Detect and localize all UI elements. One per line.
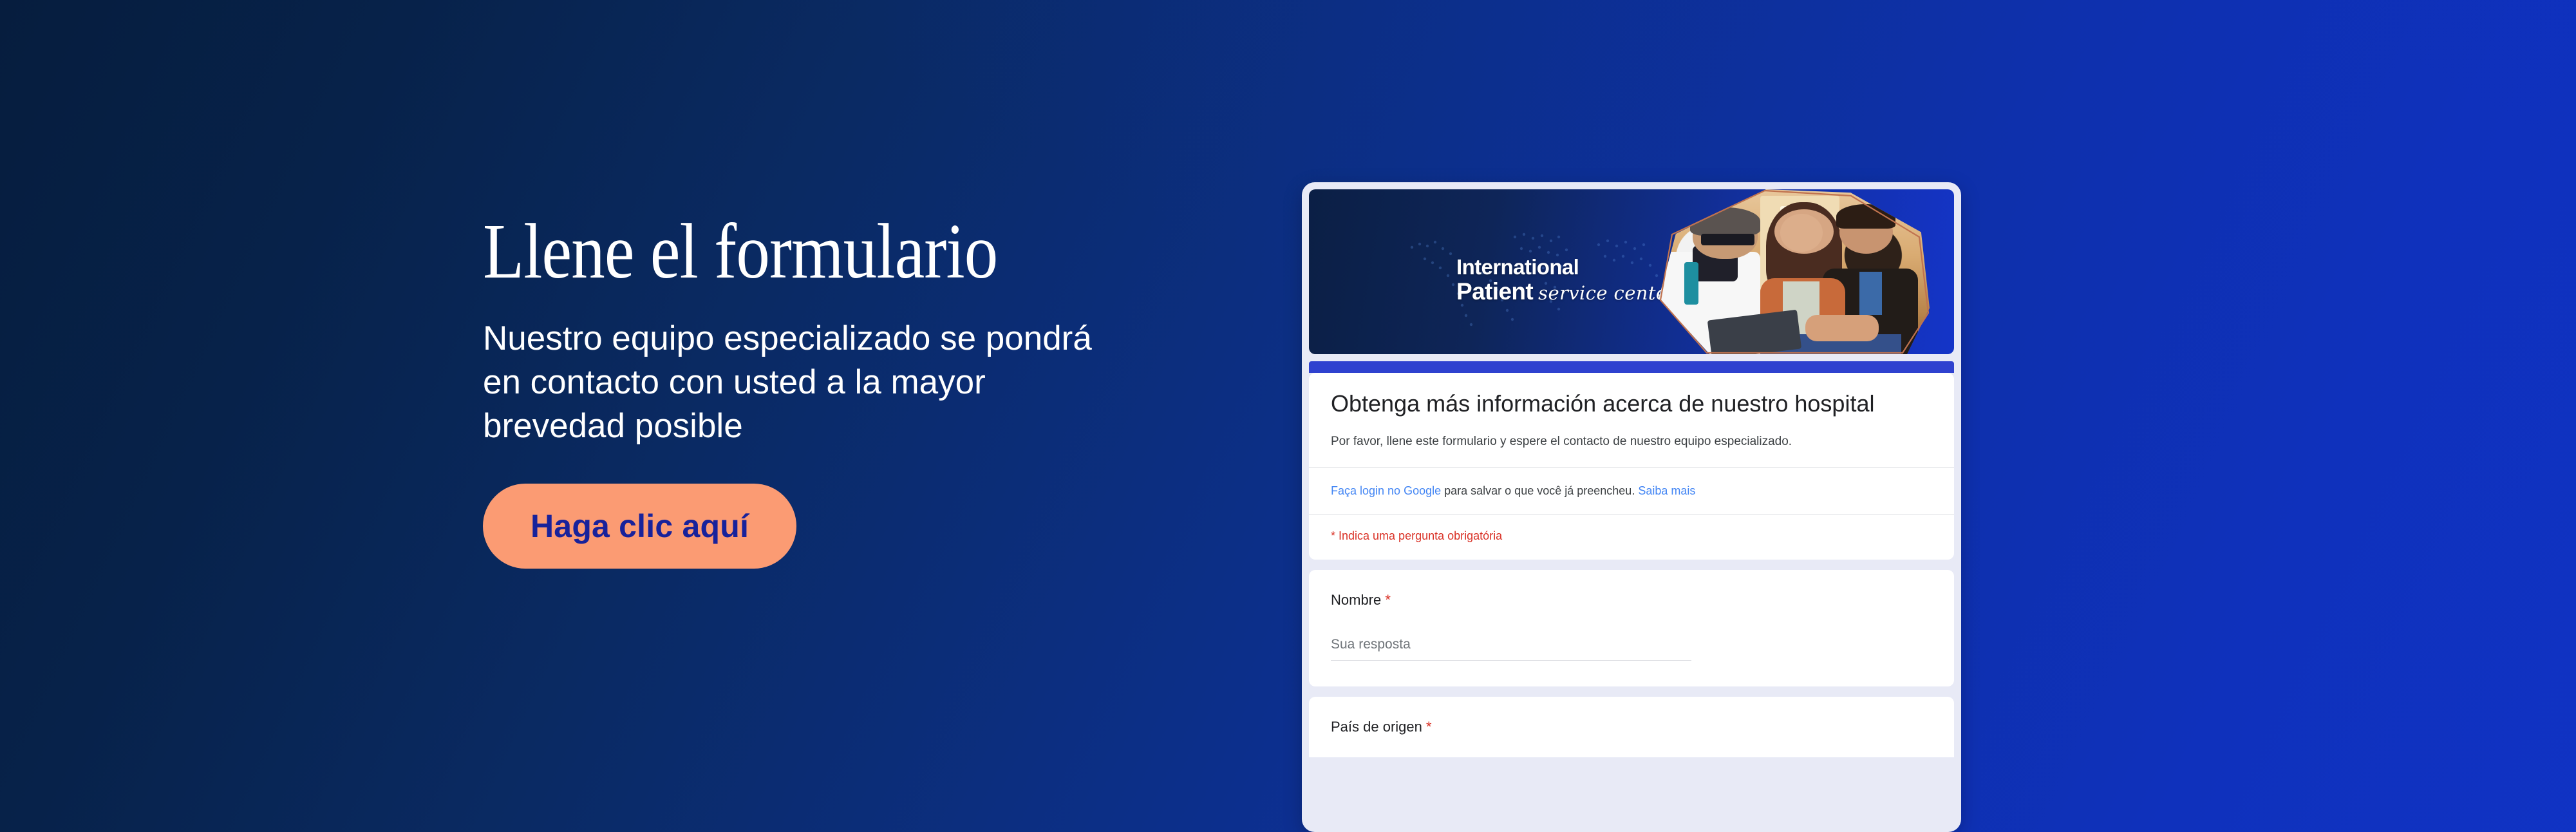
question-label-text: País de origen	[1331, 719, 1422, 735]
polygon-outline-icon	[1639, 189, 1935, 354]
form-banner: International Patient service center	[1309, 189, 1954, 354]
question-card-pais: País de origen *	[1309, 697, 1954, 757]
cta-button[interactable]: Haga clic aquí	[483, 484, 796, 569]
question-label-text: Nombre	[1331, 592, 1381, 608]
form-description: Por favor, llene este formulario y esper…	[1331, 433, 1932, 468]
logo-line-patient: Patient	[1456, 279, 1533, 305]
promo-block: Llene el formulario Nuestro equipo espec…	[483, 213, 1243, 569]
question-card-nombre: Nombre * Sua resposta	[1309, 570, 1954, 686]
signin-row: Faça login no Google para salvar o que v…	[1331, 468, 1932, 515]
required-note: * Indica uma pergunta obrigatória	[1331, 515, 1932, 560]
question-label: País de origen *	[1331, 719, 1932, 735]
google-form-embed: International Patient service center	[1302, 182, 1961, 832]
form-title: Obtenga más información acerca de nuestr…	[1331, 390, 1932, 433]
answer-input-nombre[interactable]: Sua resposta	[1331, 637, 1691, 661]
form-header-card: Obtenga más información acerca de nuestr…	[1309, 373, 1954, 560]
signin-middle-text: para salvar o que você já preencheu.	[1441, 484, 1638, 497]
required-star: *	[1426, 719, 1432, 735]
promo-subtitle: Nuestro equipo especializado se pondrá e…	[483, 317, 1133, 448]
page-title: Llene el formulario	[483, 213, 1136, 291]
page-root: Llene el formulario Nuestro equipo espec…	[0, 0, 2576, 832]
form-accent-bar	[1309, 361, 1954, 373]
required-star: *	[1385, 592, 1391, 608]
google-signin-link[interactable]: Faça login no Google	[1331, 484, 1441, 497]
question-label: Nombre *	[1331, 592, 1932, 609]
learn-more-link[interactable]: Saiba mais	[1638, 484, 1695, 497]
